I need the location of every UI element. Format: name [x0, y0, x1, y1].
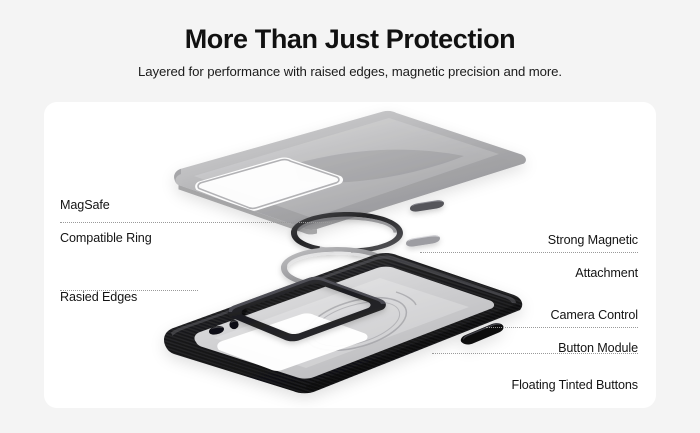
layer-raised-camera-bezel — [228, 277, 386, 342]
callout-magsafe-compatible-ring-line-2: Compatible Ring — [60, 230, 152, 247]
card-inner: MagSafe Compatible Ring Rasied Edges Str… — [44, 102, 656, 408]
callout-strong-magnetic-attachment: Strong Magnetic Attachment — [378, 215, 638, 298]
callout-rasied-edges: Rasied Edges — [60, 272, 137, 322]
page-title: More Than Just Protection — [0, 22, 700, 56]
leader-line-rasied-edges — [60, 290, 198, 291]
callout-floating-tinted-buttons: Floating Tinted Buttons — [338, 360, 638, 408]
illustration-card: MagSafe Compatible Ring Rasied Edges Str… — [44, 102, 656, 408]
side-button-mute — [209, 326, 224, 335]
layer-alignment-tab-dark — [410, 200, 444, 211]
leader-line-floating-tinted-buttons — [432, 353, 638, 354]
callout-strong-magnetic-attachment-line-2: Attachment — [378, 265, 638, 282]
heading-block: More Than Just Protection Layered for pe… — [0, 22, 700, 81]
leader-line-camera-control-button-module — [486, 327, 638, 328]
side-button-volume — [229, 320, 238, 329]
page-subtitle: Layered for performance with raised edge… — [0, 63, 700, 81]
callout-camera-control-button-module-line-1: Camera Control — [378, 307, 638, 324]
callout-floating-tinted-buttons-line-1: Floating Tinted Buttons — [338, 377, 638, 394]
callout-strong-magnetic-attachment-line-1: Strong Magnetic — [378, 232, 638, 249]
product-feature-page: More Than Just Protection Layered for pe… — [0, 0, 700, 433]
callout-magsafe-compatible-ring-line-1: MagSafe — [60, 197, 152, 214]
leader-line-strong-magnetic-attachment — [420, 252, 638, 253]
leader-line-magsafe-compatible-ring — [60, 222, 332, 223]
layer-magnetic-ring-light — [281, 247, 393, 288]
